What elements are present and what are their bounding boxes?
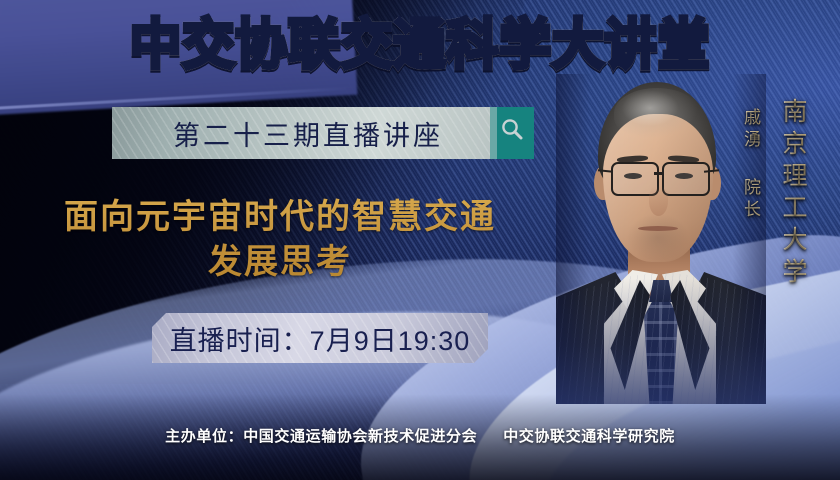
topic-title: 面向元宇宙时代的智慧交通 发展思考 — [20, 195, 540, 285]
broadcast-time-badge: 直播时间：7月9日19:30 — [152, 313, 488, 363]
search-icon — [500, 117, 524, 141]
organizer-one: 中国交通运输协会新技术促进分会 — [243, 428, 477, 445]
organizer-footer: 主办单位：中国交通运输协会新技术促进分会中交协联交通科学研究院 — [0, 425, 840, 446]
broadcast-time-label: 直播时间：7月9日19:30 — [170, 319, 471, 358]
organizer-two: 中交协联交通科学研究院 — [503, 428, 675, 445]
topic-line-2: 发展思考 — [20, 240, 540, 285]
speaker-role: 院长 — [738, 178, 763, 222]
speaker-name: 戚湧 — [738, 108, 763, 152]
episode-label: 第二十三期直播讲座 — [112, 107, 490, 159]
search-icon-tile[interactable] — [490, 107, 534, 159]
live-stream-poster: 中交协联交通科学大讲堂 第二十三期直播讲座 面向元宇宙时代的智慧交通 发展思考 … — [0, 0, 840, 480]
main-title: 中交协联交通科学大讲堂 — [17, 17, 823, 74]
speaker-affiliation: 南京理工大学 — [775, 98, 811, 290]
episode-bar: 第二十三期直播讲座 — [112, 107, 490, 159]
organizer-prefix: 主办单位： — [165, 428, 243, 445]
portrait-edge-fade — [556, 74, 766, 404]
topic-line-1: 面向元宇宙时代的智慧交通 — [20, 195, 540, 240]
speaker-portrait — [556, 74, 766, 404]
